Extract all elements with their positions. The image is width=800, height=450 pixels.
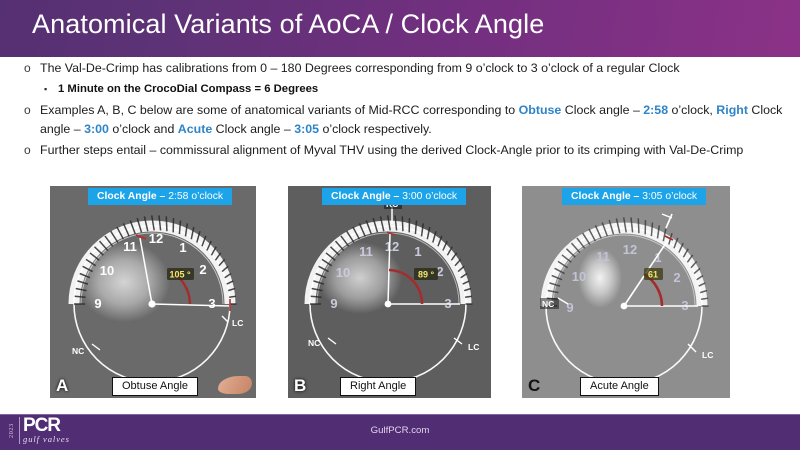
bullet-marker-icon: o	[22, 59, 40, 78]
angle-label-a: 105 °	[167, 268, 194, 280]
banner-label: Clock Angle –	[97, 191, 168, 202]
angle-label-b: 89 °	[414, 268, 438, 280]
banner-a: Clock Angle – 2:58 o’clock	[88, 188, 232, 205]
cusp-marker-nc: NC	[72, 346, 84, 356]
clock-numeral-3: 3	[208, 296, 215, 311]
text-segment: o’clock,	[668, 103, 716, 117]
svg-text:61: 61	[648, 270, 658, 280]
cusp-marker-lc: LC	[702, 350, 713, 360]
clock-numeral-10: 10	[336, 265, 350, 280]
clock-numeral-1: 1	[414, 244, 421, 259]
svg-text:105 °: 105 °	[169, 270, 191, 280]
bullet-text-1: The Val-De-Crimp has calibrations from 0…	[40, 59, 680, 78]
list-item-sub: ▪ 1 Minute on the CrocoDial Compass = 6 …	[44, 80, 792, 98]
clock-numeral-11: 11	[596, 249, 610, 264]
clock-numeral-2: 2	[673, 270, 680, 285]
panel-b-right: 9 10 11 12 1 2 3 89 ° RC	[288, 186, 491, 398]
clock-numeral-12: 12	[149, 231, 163, 246]
text-segment: Clock angle –	[561, 103, 643, 117]
clock-numeral-9: 9	[330, 296, 337, 311]
text-segment: The Val-De-Crimp has calibrations from 0…	[40, 61, 680, 75]
cusp-marker-lc: LC	[468, 342, 479, 352]
accent-305: 3:05	[294, 122, 319, 136]
clock-numeral-1: 1	[179, 240, 186, 255]
footer-divider	[0, 414, 800, 415]
banner-label: Clock Angle –	[571, 191, 642, 202]
list-item: o Examples A, B, C below are some of ana…	[22, 101, 792, 139]
text-segment: Clock angle –	[212, 122, 294, 136]
clock-overlay-b: 9 10 11 12 1 2 3 89 ° RC	[288, 186, 491, 398]
angle-label-c: 61	[644, 268, 663, 280]
clock-numeral-12: 12	[385, 239, 399, 254]
caption-b: Right Angle	[340, 377, 416, 396]
svg-text:89 °: 89 °	[418, 270, 435, 280]
clock-numeral-12: 12	[623, 242, 637, 257]
caption-a: Obtuse Angle	[112, 377, 198, 396]
banner-b: Clock Angle – 3:00 o’clock	[322, 188, 466, 205]
clock-numeral-9: 9	[566, 300, 573, 315]
banner-value: 2:58 o’clock	[168, 191, 223, 202]
footer-website: GulfPCR.com	[0, 425, 800, 436]
accent-258: 2:58	[643, 103, 668, 117]
clock-numeral-11: 11	[359, 244, 373, 259]
clock-numeral-10: 10	[100, 263, 114, 278]
panel-letter-c: C	[528, 376, 540, 396]
bullet-marker-icon: o	[22, 101, 40, 120]
bullet-text-2: 1 Minute on the CrocoDial Compass = 6 De…	[58, 80, 318, 98]
clock-overlay-c: 9 10 11 12 1 2 3 61 NC	[522, 186, 730, 398]
sub-bullet-marker-icon: ▪	[44, 80, 58, 98]
panel-c-acute: 9 10 11 12 1 2 3 61 NC	[522, 186, 730, 398]
slide-header: Anatomical Variants of AoCA / Clock Angl…	[0, 0, 800, 57]
clock-numeral-2: 2	[199, 262, 206, 277]
bullet-text-4: Further steps entail – commissural align…	[40, 141, 743, 160]
banner-c: Clock Angle – 3:05 o’clock	[562, 188, 706, 205]
text-segment: Further steps entail – commissural align…	[40, 143, 743, 157]
text-segment: o’clock and	[109, 122, 178, 136]
slide-footer: 2023 PCR gulf valves GulfPCR.com	[0, 414, 800, 450]
list-item: o The Val-De-Crimp has calibrations from…	[22, 59, 792, 78]
text-segment: Examples A, B, C below are some of anato…	[40, 103, 519, 117]
accent-acute: Acute	[178, 122, 212, 136]
cusp-marker-nc: NC	[308, 338, 320, 348]
accent-300: 3:00	[84, 122, 109, 136]
clock-numeral-9: 9	[94, 296, 101, 311]
page-title: Anatomical Variants of AoCA / Clock Angl…	[32, 9, 544, 40]
text-segment: o’clock respectively.	[319, 122, 432, 136]
clock-numeral-10: 10	[572, 269, 586, 284]
bullet-text-3: Examples A, B, C below are some of anato…	[40, 101, 792, 139]
text-segment: 1 Minute on the CrocoDial Compass = 6 De…	[58, 83, 318, 95]
banner-value: 3:05 o’clock	[642, 191, 697, 202]
clock-overlay-a: 9 10 11 12 1 2 3 105 ° NC LC	[50, 186, 256, 398]
panel-group: 9 10 11 12 1 2 3 105 ° NC LC	[0, 186, 800, 402]
list-item: o Further steps entail – commissural ali…	[22, 141, 792, 160]
banner-label: Clock Angle –	[331, 191, 402, 202]
bullet-list: o The Val-De-Crimp has calibrations from…	[22, 59, 792, 162]
bullet-marker-icon: o	[22, 141, 40, 160]
accent-obtuse: Obtuse	[519, 103, 562, 117]
cusp-marker-lc: LC	[232, 318, 243, 328]
clock-numeral-11: 11	[123, 239, 137, 254]
accent-right: Right	[716, 103, 748, 117]
banner-value: 3:00 o’clock	[402, 191, 457, 202]
caption-c: Acute Angle	[580, 377, 659, 396]
panel-letter-a: A	[56, 376, 68, 396]
panel-a-obtuse: 9 10 11 12 1 2 3 105 ° NC LC	[50, 186, 256, 398]
cusp-marker-nc: NC	[542, 299, 554, 309]
panel-letter-b: B	[294, 376, 306, 396]
hand-artifact	[218, 376, 252, 394]
